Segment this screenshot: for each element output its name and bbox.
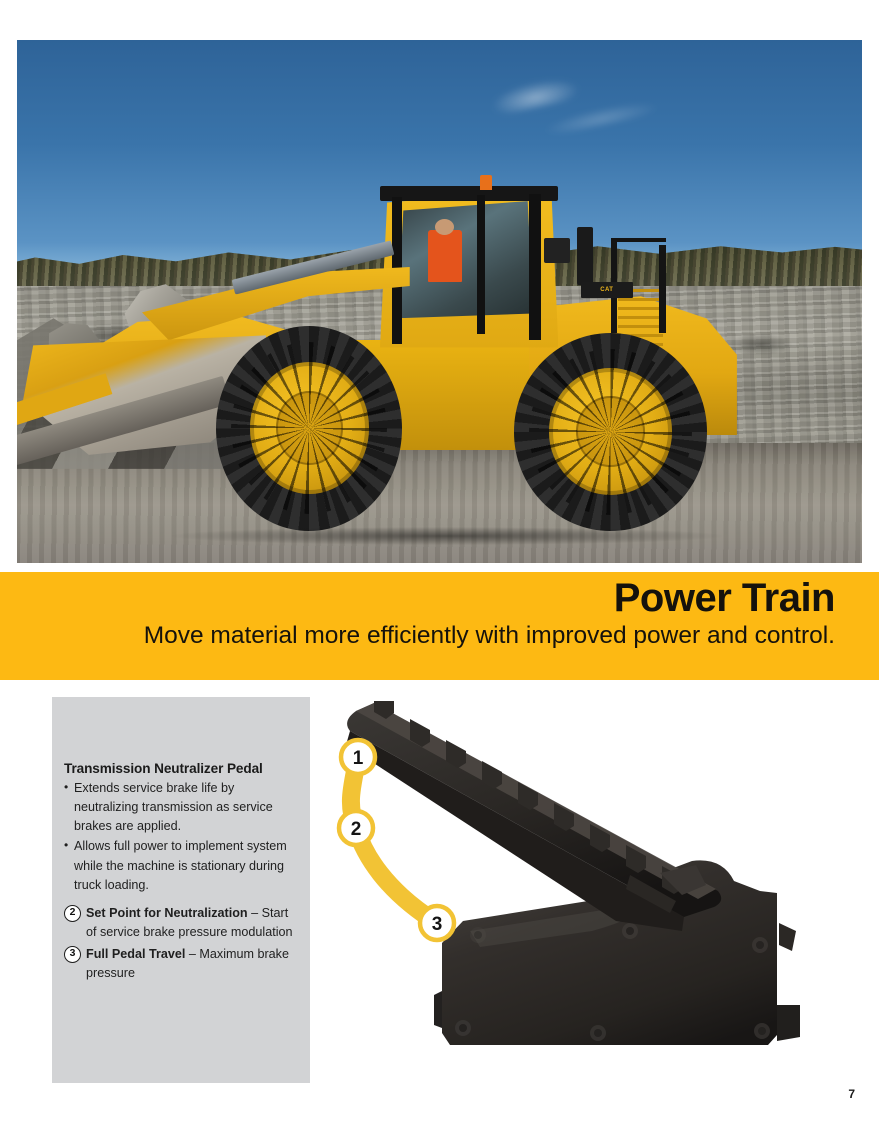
pedal-diagram: 1 2 3 [330,695,870,1090]
exhaust-stack [577,227,593,286]
grab-rail [659,245,666,333]
pedal-tread-teeth [374,701,682,894]
cat-logo-badge: CAT [581,282,633,299]
side-mirror [544,238,571,264]
beacon-light-icon [480,175,492,190]
callout-2-label: 2 [351,819,362,840]
wheel-lug-bolts [231,342,387,514]
info-panel-content: Transmission Neutralizer Pedal Extends s… [64,761,296,986]
machine-shadow [172,527,722,545]
legend-term: Set Point for Neutralization [86,906,248,920]
list-item: Allows full power to implement system wh… [64,837,296,894]
feature-bullet-list: Extends service brake life by neutralizi… [64,779,296,895]
page-title: Power Train [614,578,835,618]
callout-legend: 2Set Point for Neutralization – Start of… [64,904,296,984]
callout-1-label: 1 [353,748,364,769]
legend-item-2: 2Set Point for Neutralization – Start of… [64,904,296,942]
page-number: 7 [848,1087,855,1101]
info-panel: Transmission Neutralizer Pedal Extends s… [52,697,310,1083]
front-tire [216,326,402,531]
legend-number-badge: 3 [64,946,81,963]
wheel-lug-bolts [529,349,691,515]
cat-logo-text: CAT [581,282,633,299]
cab-pillar [477,195,485,334]
info-panel-heading: Transmission Neutralizer Pedal [64,761,296,776]
legend-term: Full Pedal Travel [86,947,185,961]
legend-item-3: 3Full Pedal Travel – Maximum brake press… [64,945,296,983]
page-subtitle: Move material more efficiently with impr… [144,624,835,649]
legend-number-badge: 2 [64,905,81,922]
grab-rail [611,238,666,242]
operator-torso [428,230,461,281]
hero-photo: CAT [17,40,862,563]
rear-tire [514,333,707,531]
cab-pillar [529,194,541,340]
list-item: Extends service brake life by neutralizi… [64,779,296,836]
callout-3[interactable]: 3 [420,906,454,940]
section-banner: Power Train Move material more efficient… [0,572,879,680]
pedal-diagram-svg: 1 2 3 [330,695,870,1090]
wheel-loader: CAT [68,186,812,552]
callout-2[interactable]: 2 [339,811,373,845]
callout-3-label: 3 [432,914,443,935]
callout-1[interactable]: 1 [341,740,375,774]
cab-glass [395,201,536,318]
page-root: CAT Power Train Move material more effic… [0,0,879,1137]
